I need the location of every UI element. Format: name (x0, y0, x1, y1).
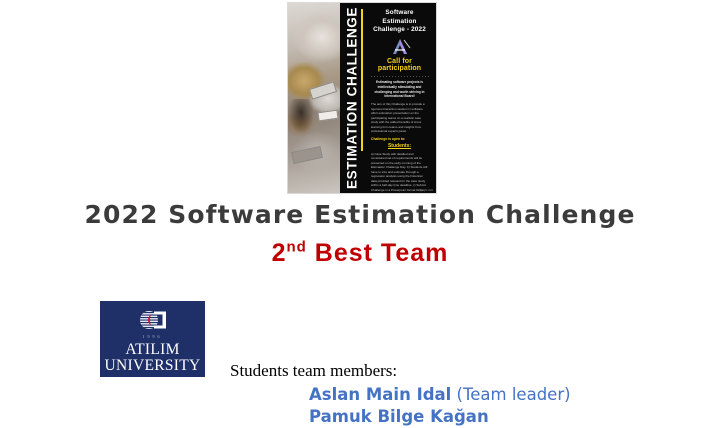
poster-call-for-participation: Call for participation (368, 58, 431, 72)
poster-content: Software Estimation Challenge - 2022 Cal… (364, 3, 436, 193)
poster-students-heading: Students: (368, 143, 431, 149)
poster-photo-figure (288, 99, 314, 133)
university-founded-year: 1996 (143, 334, 163, 339)
poster-open-to-label: Challenge is open to: (371, 137, 428, 141)
award-rank-number: 2 (272, 239, 287, 267)
poster-body-text: The aim of this Challenge is to provide … (371, 102, 428, 134)
poster-vertical-band: ESTIMATION CHALLENGE (340, 3, 364, 193)
poster-dotted-divider (370, 75, 429, 78)
team-members-label: Students team members: (230, 361, 397, 381)
university-name-line2: UNIVERSITY (105, 358, 201, 374)
atilim-university-logo: 1996 ATILIM UNIVERSITY (100, 301, 205, 377)
poster-requirements-text: a) Case Study with detailed and constrai… (371, 152, 428, 193)
award-rank-suffix: nd (287, 239, 307, 256)
poster-heading: Software Estimation Challenge - 2022 (368, 9, 431, 35)
list-item: Pamuk Bilge Kağan (309, 407, 489, 426)
challenge-poster-image: ESTIMATION CHALLENGE Software Estimation… (287, 2, 437, 194)
team-member-name: Aslan Main Idal (309, 385, 451, 404)
team-member-role: (Team leader) (451, 385, 570, 404)
team-member-name: Pamuk Bilge Kağan (309, 407, 489, 426)
poster-vertical-title: ESTIMATION CHALLENGE (345, 7, 360, 189)
poster-lead-text: Estimating software projects is intellec… (371, 80, 428, 99)
challenge-logo-icon (387, 37, 413, 57)
award-rank-text: Best Team (315, 239, 449, 267)
university-name: ATILIM UNIVERSITY (105, 342, 201, 375)
university-emblem-icon (136, 308, 170, 332)
award-rank-heading: 2nd Best Team (0, 239, 720, 268)
poster-yellow-accent-bar (361, 9, 363, 151)
poster-photo (288, 3, 340, 193)
list-item: Aslan Main Idal (Team leader) (309, 385, 571, 404)
poster-credit-text: Copyright 2022 (417, 189, 433, 192)
page-title: 2022 Software Estimation Challenge (0, 200, 720, 229)
university-name-line1: ATILIM (105, 342, 201, 358)
